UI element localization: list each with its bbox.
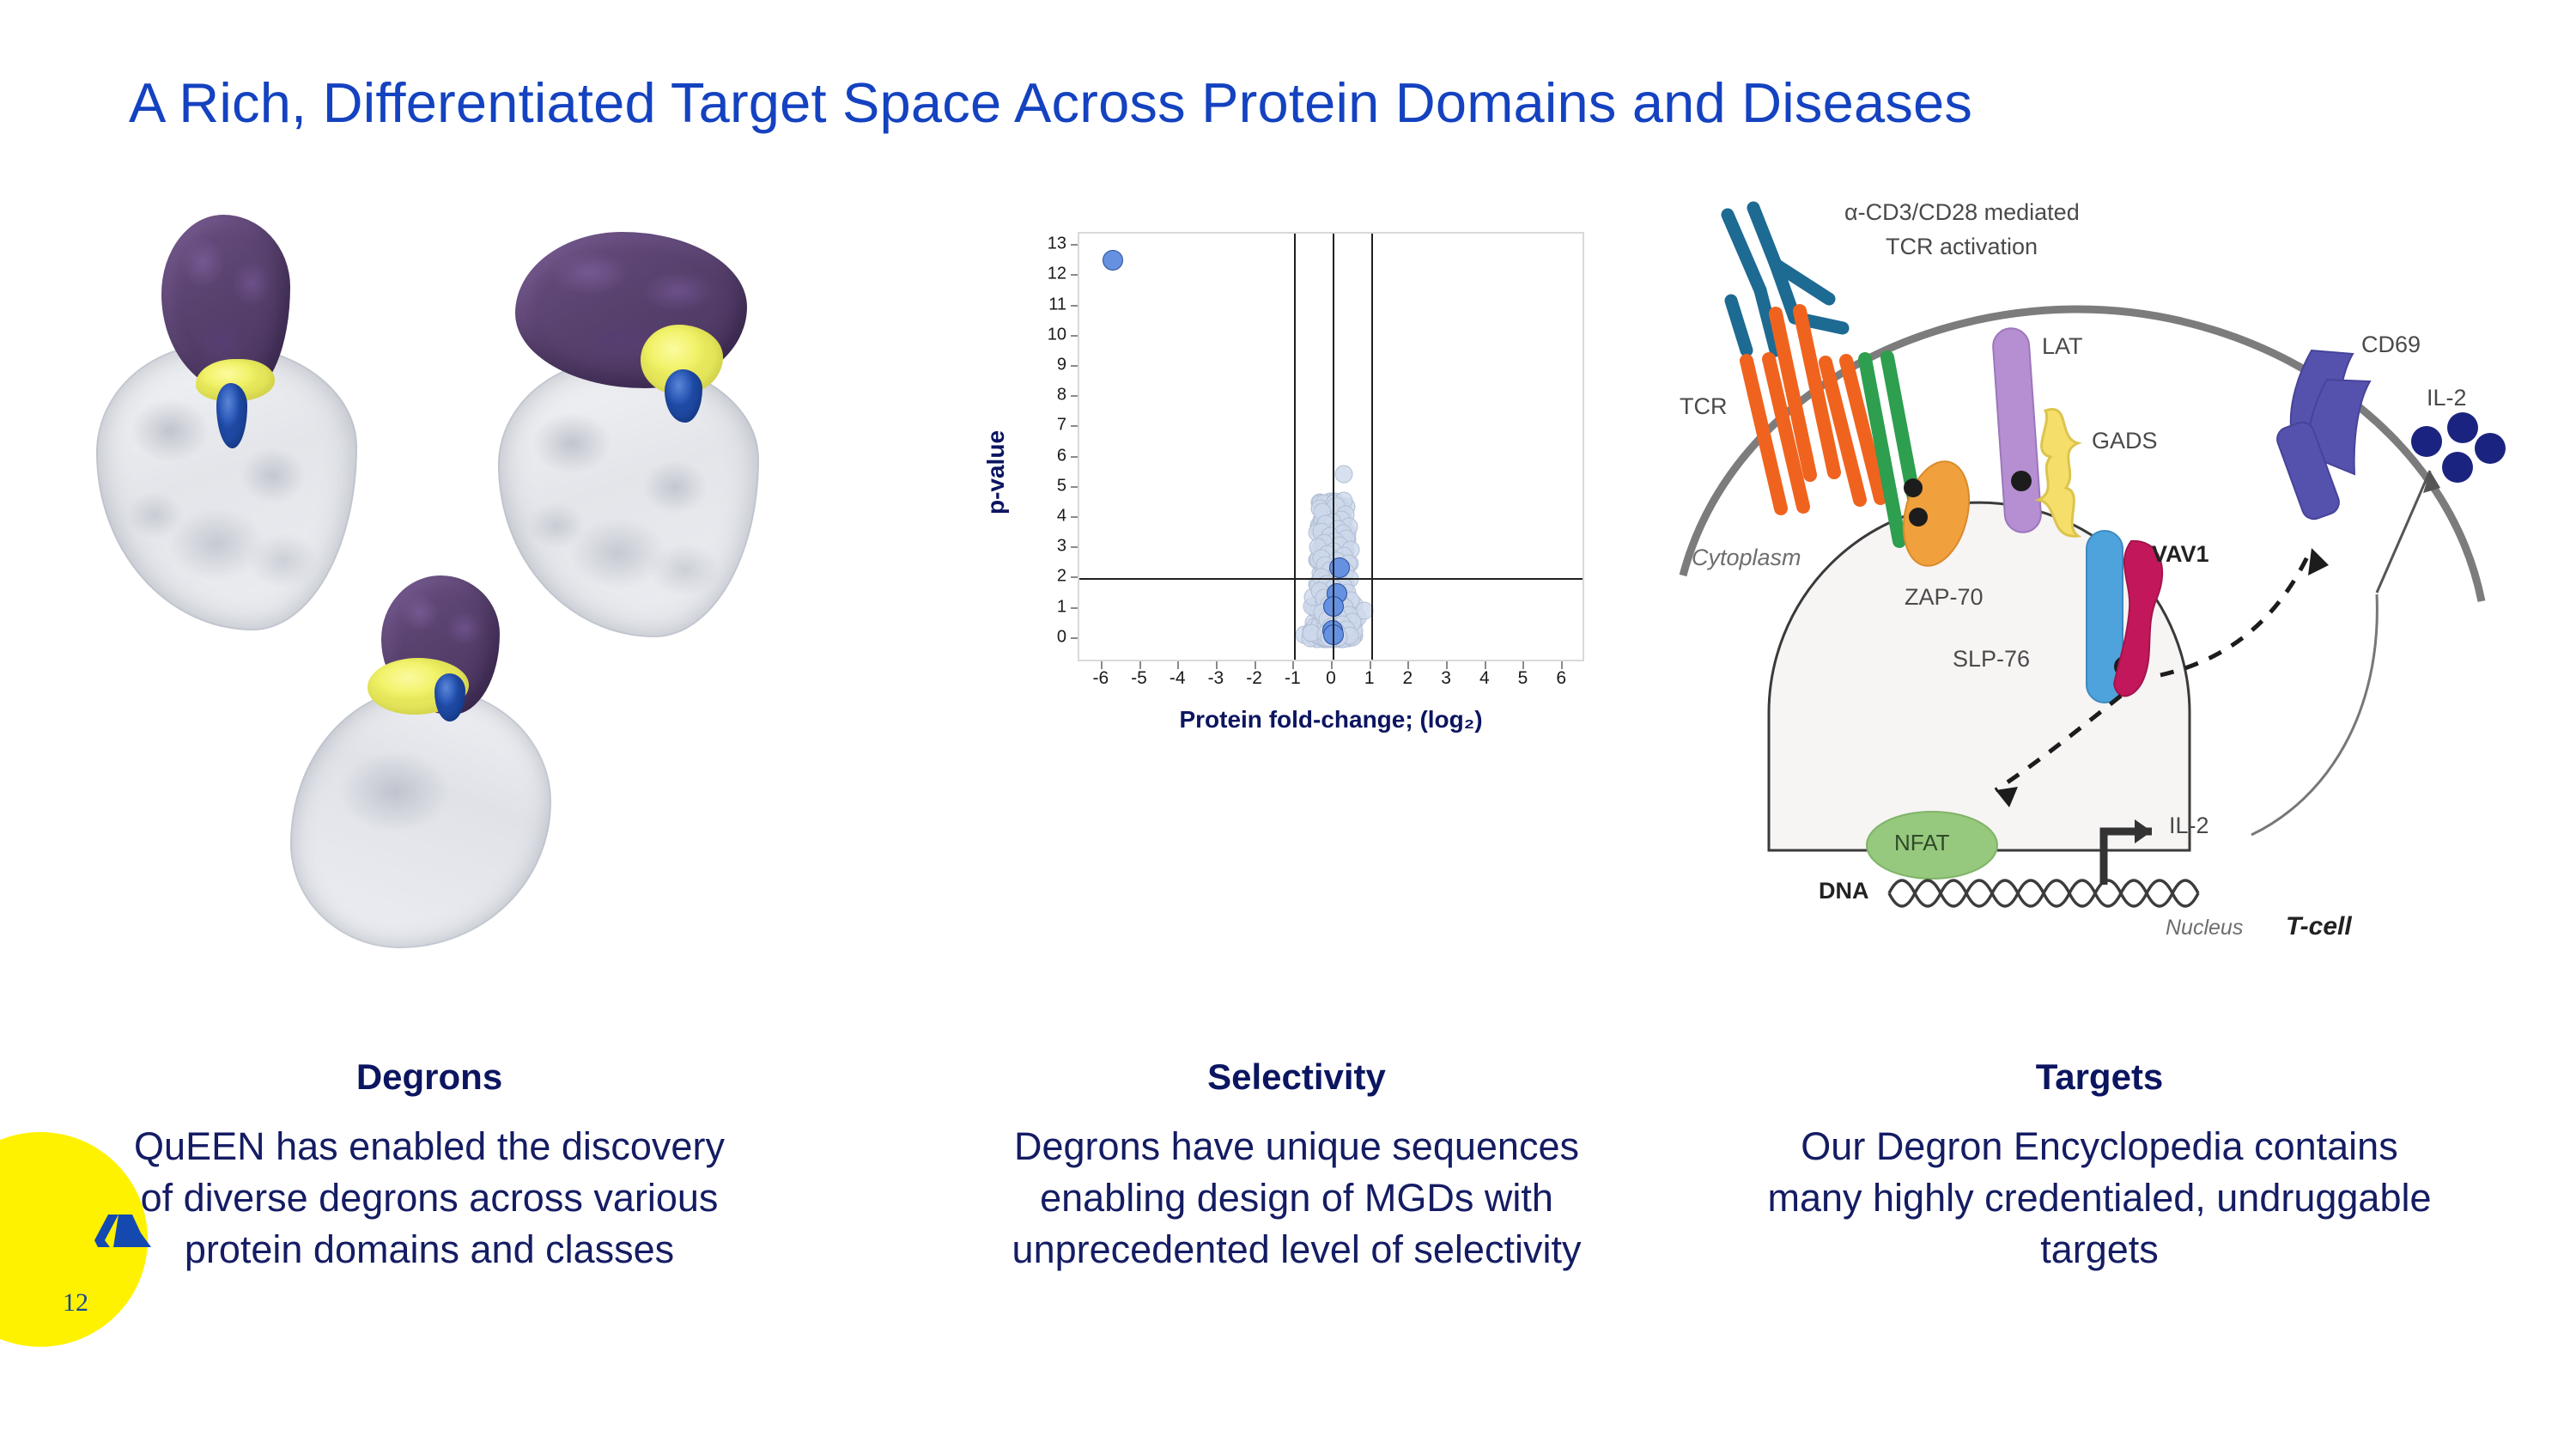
x-axis-tick-mark	[1485, 661, 1486, 669]
label-lat: LAT	[2042, 333, 2083, 360]
panel-selectivity: p-value 012345678910111213 -6-5-4-3-2-10…	[945, 198, 1649, 1400]
company-logo-icon	[79, 1202, 165, 1263]
x-axis-tick-mark	[1255, 661, 1256, 669]
label-gads: GADS	[2092, 428, 2158, 454]
x-axis-tick-mark	[1292, 661, 1294, 669]
x-axis-tick-label: -1	[1273, 668, 1311, 689]
threshold-line-vertical	[1294, 234, 1296, 660]
label-nucleus: Nucleus	[2166, 916, 2243, 941]
panel-heading-targets: Targets	[1674, 1056, 2524, 1098]
x-axis-tick-label: 2	[1388, 668, 1426, 689]
tcell-diagram: α-CD3/CD28 mediated TCR activation TCR L…	[1674, 198, 2524, 988]
y-axis-tick-label: 12	[1027, 265, 1066, 284]
x-axis-tick-label: 0	[1312, 668, 1350, 689]
x-axis-tick-label: -5	[1121, 668, 1158, 689]
label-stimulus-line1: α-CD3/CD28 mediated	[1844, 199, 2080, 226]
x-axis-tick-mark	[1216, 661, 1218, 669]
x-axis-tick-mark	[1561, 661, 1563, 669]
y-axis-tick-mark	[1071, 244, 1078, 246]
x-axis-tick-mark	[1370, 661, 1371, 669]
x-axis-tick-label: 3	[1427, 668, 1465, 689]
y-axis-tick-mark	[1071, 395, 1078, 397]
x-axis-tick-mark	[1522, 661, 1524, 669]
x-axis-label: Protein fold-change; (log₂)	[1078, 706, 1584, 734]
panel-heading-selectivity: Selectivity	[945, 1056, 1649, 1098]
panel-caption-degrons: QuEEN has enabled the discovery of diver…	[52, 1121, 807, 1275]
volcano-plot-figure: p-value 012345678910111213 -6-5-4-3-2-10…	[945, 198, 1649, 988]
label-stimulus-line2: TCR activation	[1886, 234, 2038, 260]
y-axis-tick-label: 4	[1027, 506, 1066, 526]
panel-heading-degrons: Degrons	[52, 1056, 807, 1098]
y-axis-tick-mark	[1071, 486, 1078, 488]
y-axis-tick-mark	[1071, 425, 1078, 427]
x-axis-tick-label: -6	[1082, 668, 1120, 689]
data-point	[1335, 465, 1353, 483]
tcr-signaling-figure: α-CD3/CD28 mediated TCR activation TCR L…	[1674, 198, 2524, 988]
label-il2-nucleus: IL-2	[2169, 813, 2209, 839]
label-il2-extracellular: IL-2	[2427, 385, 2467, 411]
page-number: 12	[50, 1288, 101, 1318]
y-axis-tick-label: 9	[1027, 355, 1066, 374]
threshold-line-vertical	[1333, 234, 1334, 660]
data-point-highlighted	[1103, 250, 1123, 271]
cd69-receptor	[2274, 350, 2370, 522]
y-axis-label: p-value	[982, 430, 1010, 514]
x-axis-tick-mark	[1446, 661, 1448, 669]
panel-caption-targets: Our Degron Encyclopedia contains many hi…	[1674, 1121, 2524, 1275]
protein-structure-1	[86, 215, 369, 627]
label-cytoplasm: Cytoplasm	[1692, 545, 1801, 571]
label-tcell: T-cell	[2286, 912, 2352, 941]
x-axis-tick-label: 1	[1351, 668, 1388, 689]
y-axis-tick-label: 0	[1027, 627, 1066, 647]
label-nfat: NFAT	[1894, 830, 1950, 856]
x-axis-tick-label: -4	[1158, 668, 1196, 689]
y-axis-tick-mark	[1071, 335, 1078, 337]
label-tcr: TCR	[1680, 393, 1728, 420]
y-axis-tick-mark	[1071, 607, 1078, 609]
x-axis-tick-label: 5	[1504, 668, 1541, 689]
threshold-line-horizontal	[1079, 578, 1583, 580]
y-axis-tick-mark	[1071, 274, 1078, 276]
y-axis-tick-label: 8	[1027, 386, 1066, 405]
x-axis-tick-label: 6	[1542, 668, 1580, 689]
y-axis-tick-label: 6	[1027, 446, 1066, 466]
x-axis-tick-label: -3	[1197, 668, 1235, 689]
y-axis-tick-mark	[1071, 576, 1078, 578]
y-axis-tick-label: 10	[1027, 325, 1066, 344]
label-cd69: CD69	[2361, 332, 2421, 358]
plot-area	[1078, 232, 1584, 661]
y-axis-tick-label: 7	[1027, 416, 1066, 435]
y-axis-tick-label: 3	[1027, 537, 1066, 557]
x-axis-tick-mark	[1139, 661, 1141, 669]
protein-structure-figure	[52, 198, 807, 988]
label-dna: DNA	[1819, 878, 1869, 904]
x-axis-tick-mark	[1177, 661, 1179, 669]
y-axis-tick-label: 2	[1027, 567, 1066, 587]
x-axis-tick-mark	[1407, 661, 1409, 669]
y-axis-tick-label: 5	[1027, 476, 1066, 496]
panel-targets: α-CD3/CD28 mediated TCR activation TCR L…	[1674, 198, 2524, 1400]
dna-helix	[1889, 880, 2198, 906]
volcano-plot: p-value 012345678910111213 -6-5-4-3-2-10…	[945, 215, 1649, 816]
threshold-line-vertical	[1371, 234, 1373, 660]
y-axis-tick-label: 11	[1027, 295, 1066, 314]
y-axis-tick-mark	[1071, 546, 1078, 548]
label-zap70: ZAP-70	[1905, 584, 1984, 611]
y-axis-tick-label: 1	[1027, 597, 1066, 617]
y-axis-tick-mark	[1071, 516, 1078, 518]
y-axis-tick-mark	[1071, 305, 1078, 307]
y-axis-tick-mark	[1071, 365, 1078, 367]
y-axis-tick-mark	[1071, 456, 1078, 458]
x-axis-tick-mark	[1331, 661, 1333, 669]
label-slp76: SLP-76	[1953, 646, 2030, 673]
y-axis-tick-label: 13	[1027, 234, 1066, 254]
x-axis-tick-label: 4	[1466, 668, 1504, 689]
y-axis-tick-mark	[1071, 637, 1078, 639]
panel-degrons: Degrons QuEEN has enabled the discovery …	[52, 198, 807, 1400]
label-vav1: VAV1	[2152, 541, 2209, 568]
x-axis-tick-label: -2	[1236, 668, 1273, 689]
panel-caption-selectivity: Degrons have unique sequences enabling d…	[945, 1121, 1649, 1275]
page-title: A Rich, Differentiated Target Space Acro…	[129, 70, 2447, 135]
protein-structure-3	[275, 575, 575, 945]
x-axis-tick-mark	[1101, 661, 1103, 669]
